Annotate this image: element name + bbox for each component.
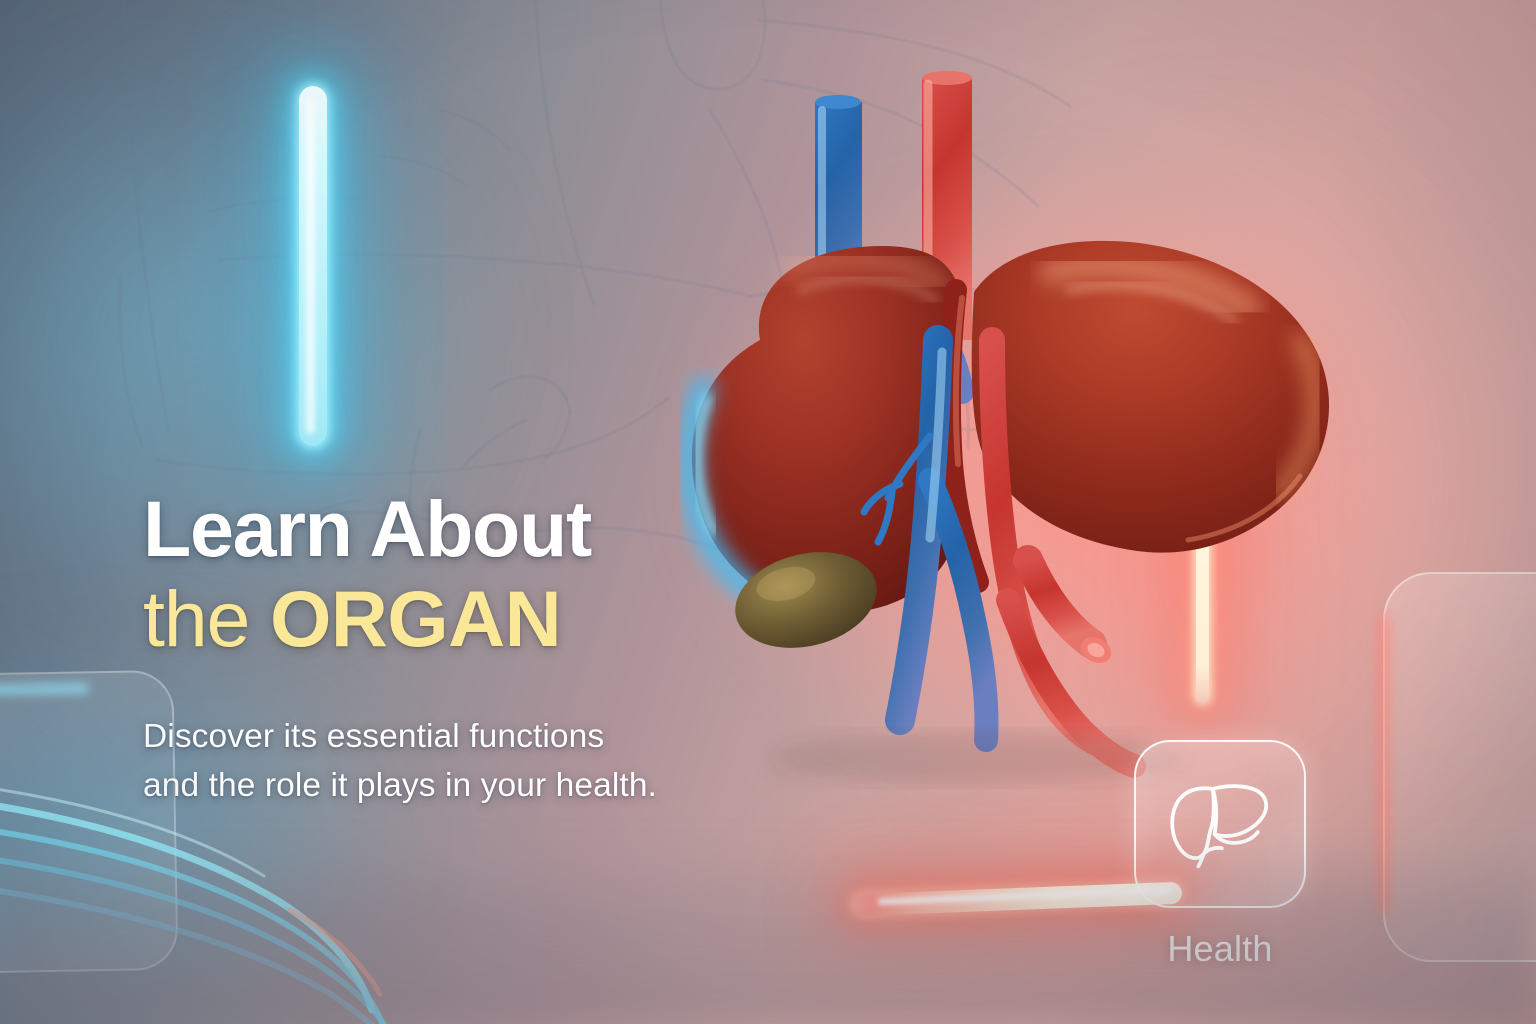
page-subtitle-line-2: and the role it plays in your health. bbox=[143, 762, 903, 810]
glass-cube-right bbox=[1383, 572, 1536, 962]
page-title: Learn About bbox=[143, 488, 903, 570]
liver-outline-icon bbox=[1166, 778, 1274, 870]
hero-copy: Learn About the ORGAN Discover its essen… bbox=[143, 488, 903, 810]
health-badge-card[interactable] bbox=[1134, 740, 1306, 908]
cyan-neon-bar bbox=[299, 86, 327, 446]
health-badge-label: Health bbox=[1134, 928, 1306, 970]
page-title-accent: the ORGAN bbox=[143, 576, 903, 661]
page-subtitle-line-1: Discover its essential functions bbox=[143, 713, 903, 761]
page-title-accent-prefix: the bbox=[143, 574, 270, 663]
red-neon-bar-horizontal bbox=[852, 882, 1183, 917]
page-title-accent-word: ORGAN bbox=[270, 574, 561, 663]
hero-banner: Learn About the ORGAN Discover its essen… bbox=[0, 0, 1536, 1024]
page-subtitle: Discover its essential functions and the… bbox=[143, 713, 903, 809]
health-badge[interactable]: Health bbox=[1134, 740, 1306, 970]
